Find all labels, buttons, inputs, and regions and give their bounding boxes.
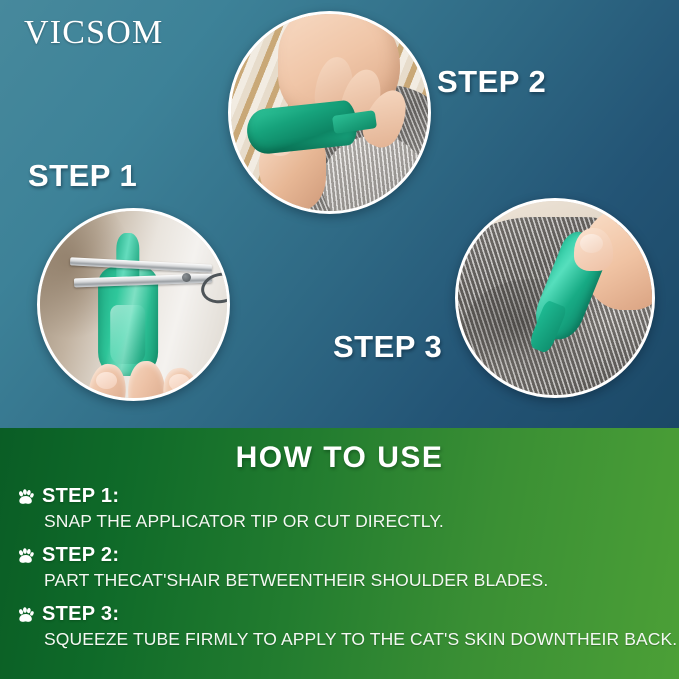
instruction-item: STEP 2: PART THECAT'SHAIR BETWEENTHEIR S… [0,544,679,591]
photo-panel: VICSOM [0,0,679,428]
step-2-photo [228,11,431,214]
brand-logo: VICSOM [24,14,163,52]
instruction-list: STEP 1: SNAP THE APPLICATOR TIP OR CUT D… [0,485,679,662]
step-3-photo [455,198,655,398]
fingernail [169,374,190,391]
paw-icon [16,546,35,565]
instruction-detail: SNAP THE APPLICATOR TIP OR CUT DIRECTLY. [44,511,679,532]
scissors-cutting-applicator-photo [40,211,227,398]
step-2-photo-label: STEP 2 [437,64,546,100]
applicator-liquid [110,305,146,365]
instruction-detail: PART THECAT'SHAIR BETWEENTHEIR SHOULDER … [44,570,679,591]
paw-icon [16,487,35,506]
fingernail [96,372,117,389]
applicator-tip [116,233,139,280]
instruction-heading-row: STEP 2: [16,544,679,567]
how-to-use-panel: HOW TO USE STEP 1: SNAP THE APPLICATOR T… [0,428,679,679]
instruction-item: STEP 1: SNAP THE APPLICATOR TIP OR CUT D… [0,485,679,532]
product-infographic: VICSOM [0,0,679,679]
instruction-heading: STEP 1: [42,485,119,508]
instruction-heading-row: STEP 1: [16,485,679,508]
step-1-photo-label: STEP 1 [28,158,137,194]
instruction-item: STEP 3: SQUEEZE TUBE FIRMLY TO APPLY TO … [0,603,679,650]
hand-parting-cat-fur-photo [231,14,428,211]
instruction-heading: STEP 3: [42,603,119,626]
how-to-use-title: HOW TO USE [0,441,679,475]
instruction-detail: SQUEEZE TUBE FIRMLY TO APPLY TO THE CAT'… [44,629,679,650]
instruction-heading-row: STEP 3: [16,603,679,626]
applying-tube-to-cat-back-photo [458,201,652,395]
step-3-photo-label: STEP 3 [333,329,442,365]
paw-icon [16,605,35,624]
step-1-photo [37,208,230,401]
instruction-heading: STEP 2: [42,544,119,567]
